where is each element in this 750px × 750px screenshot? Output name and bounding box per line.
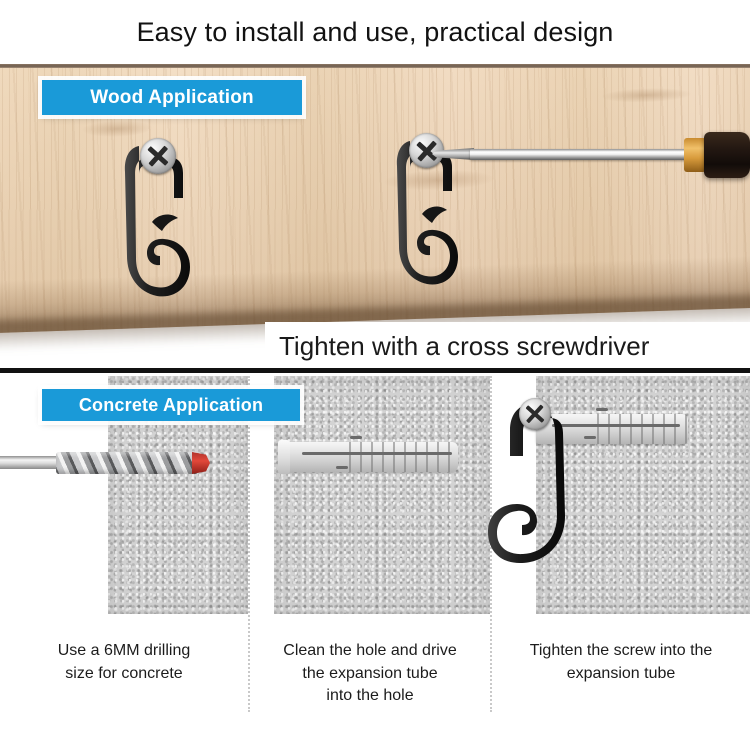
- header-bar: Easy to install and use, practical desig…: [0, 0, 750, 64]
- tighten-caption: Tighten with a cross screwdriver: [265, 322, 750, 370]
- concrete-block: [274, 376, 490, 614]
- section-divider-bar: [0, 368, 750, 373]
- expansion-tube-wing: [336, 466, 348, 469]
- screwdriver-handle: [704, 132, 750, 178]
- infographic-page: Easy to install and use, practical desig…: [0, 0, 750, 750]
- tighten-caption-text: Tighten with a cross screwdriver: [265, 331, 649, 362]
- expansion-tube-collar: [278, 440, 290, 474]
- drill-flute: [56, 452, 198, 474]
- screwdriver-tip: [432, 148, 474, 160]
- phillips-screw-icon: [140, 138, 176, 174]
- panel-divider-1: [248, 376, 250, 712]
- badge-wood-label: Wood Application: [90, 87, 254, 109]
- expansion-tube-ribs: [340, 442, 458, 472]
- cross-screwdriver-icon: [432, 140, 750, 190]
- expansion-tube-wing: [350, 436, 362, 439]
- step-panel-drill: Use a 6MM drilling size for concrete: [0, 374, 248, 750]
- step-panel-insert-tube: Clean the hole and drive the expansion t…: [250, 374, 490, 750]
- drill-shank: [0, 456, 60, 469]
- hook-left: [118, 136, 196, 306]
- badge-concrete-application: Concrete Application: [42, 389, 300, 421]
- phillips-screw-icon: [519, 398, 551, 430]
- page-title: Easy to install and use, practical desig…: [137, 17, 614, 48]
- hook-mounted: [484, 396, 584, 578]
- screwdriver-shaft: [470, 149, 688, 160]
- concrete-application-section: Use a 6MM drilling size for concrete Cle…: [0, 374, 750, 750]
- expansion-tube-body: [284, 442, 458, 472]
- expansion-tube-slot: [302, 452, 452, 455]
- step-caption: Clean the hole and drive the expansion t…: [250, 640, 490, 708]
- expansion-tube-wing: [596, 408, 608, 411]
- step-caption: Tighten the screw into the expansion tub…: [492, 640, 750, 685]
- expansion-tube-wing: [584, 436, 596, 439]
- expansion-tube-ribs: [588, 414, 688, 444]
- badge-concrete-label: Concrete Application: [79, 395, 263, 416]
- wood-top-edge: [0, 64, 750, 68]
- badge-wood-application: Wood Application: [42, 80, 302, 115]
- step-panel-tighten-screw: Tighten the screw into the expansion tub…: [492, 374, 750, 750]
- screwdriver-ferrule: [684, 138, 706, 172]
- step-caption: Use a 6MM drilling size for concrete: [8, 640, 240, 685]
